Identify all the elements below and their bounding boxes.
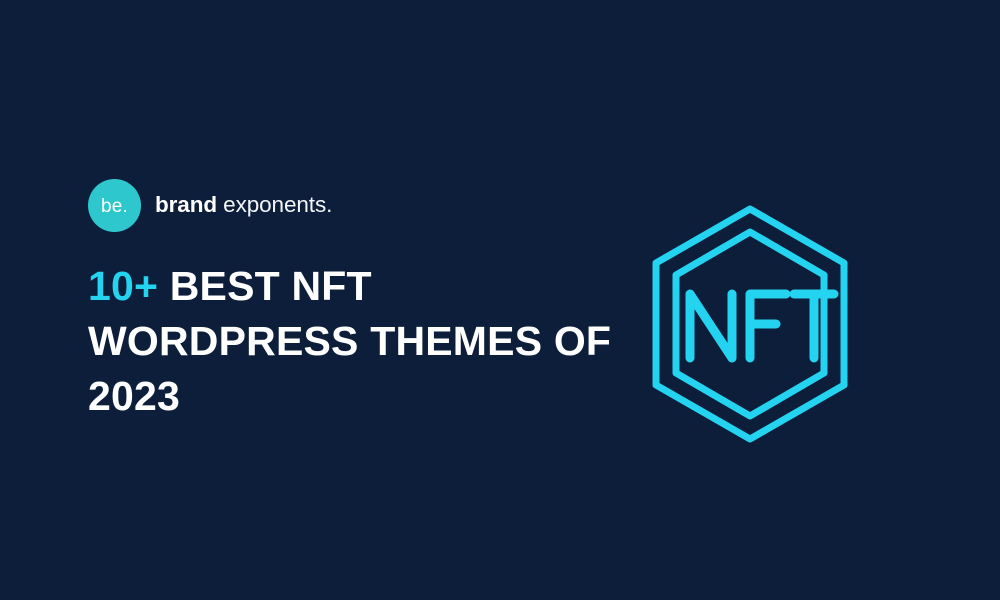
- page-title: 10+ BEST NFT WORDPRESS THEMES OF 2023: [88, 259, 618, 424]
- brand-wordmark-light: exponents.: [217, 192, 332, 217]
- brand-mark-label: be.: [101, 197, 128, 216]
- brand-wordmark: brand exponents.: [155, 194, 332, 217]
- brand-wordmark-strong: brand: [155, 192, 217, 217]
- letter-n-path: [690, 294, 732, 358]
- nft-hexagon-icon: [628, 198, 872, 450]
- headline-main-text: BEST NFT WORDPRESS THEMES OF 2023: [88, 263, 611, 419]
- promo-banner: be. brand exponents. 10+ BEST NFT WORDPR…: [0, 0, 1000, 600]
- brand-logo[interactable]: be. brand exponents.: [88, 179, 332, 232]
- letter-t-path: [794, 294, 834, 358]
- headline-accent-count: 10+: [88, 263, 158, 309]
- be-circle-icon: be.: [88, 179, 141, 232]
- letter-f-path: [750, 294, 786, 358]
